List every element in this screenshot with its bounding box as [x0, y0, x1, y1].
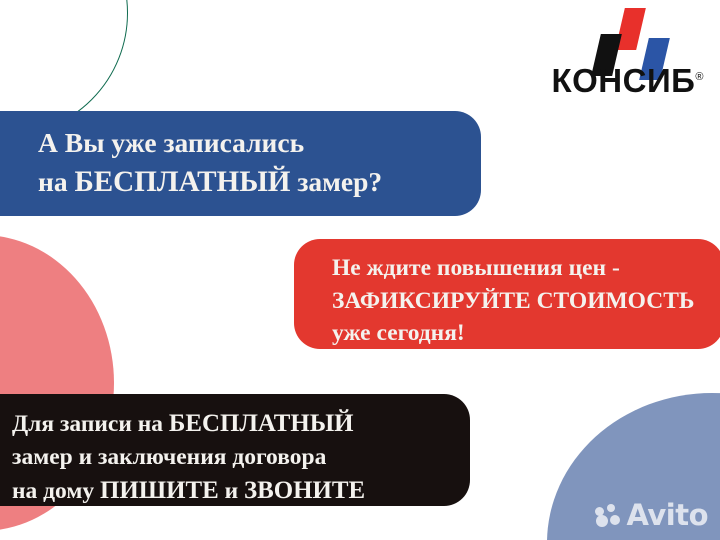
red-banner-line-3: уже сегодня!: [332, 318, 720, 349]
blue-banner-line-2-emphasis: БЕСПЛАТНЫЙ: [74, 166, 290, 198]
blue-banner-line-2-suffix: замер?: [290, 166, 382, 197]
logo-parallelogram-icon: [534, 8, 704, 66]
company-logo: КОНСИБ®: [534, 8, 704, 106]
avito-watermark: Avito: [595, 501, 708, 530]
black-banner-line-1: Для записи на БЕСПЛАТНЫЙ: [12, 408, 470, 440]
logo-wordmark: КОНСИБ®: [534, 62, 704, 100]
logo-wordmark-text: КОНСИБ: [551, 62, 695, 99]
avito-watermark-label: Avito: [626, 501, 708, 530]
urgency-red-banner: Не ждите повышения цен - ЗАФИКСИРУЙТЕ СТ…: [294, 239, 720, 349]
blue-banner-line-2-prefix: на: [38, 166, 74, 197]
black-banner-line-1-emphasis: БЕСПЛАТНЫЙ: [169, 410, 354, 437]
black-banner-line-2: замер и заключения договора: [12, 442, 470, 473]
cta-black-banner: Для записи на БЕСПЛАТНЫЙ замер и заключе…: [0, 394, 470, 506]
red-banner-line-2: ЗАФИКСИРУЙТЕ СТОИМОСТЬ: [332, 286, 720, 317]
headline-blue-banner: А Вы уже записались на БЕСПЛАТНЫЙ замер?: [0, 111, 481, 216]
black-banner-line-3-conjunction: и: [219, 478, 244, 504]
logo-mark-red-icon: [615, 8, 646, 50]
black-banner-line-1-prefix: Для записи на: [12, 411, 169, 437]
black-banner-line-3-prefix: на дому: [12, 478, 100, 504]
blue-banner-line-1: А Вы уже записались: [38, 125, 481, 161]
red-banner-line-1: Не ждите повышения цен -: [332, 253, 720, 284]
black-banner-line-3-emphasis-write: ПИШИТЕ: [100, 477, 219, 504]
black-banner-line-3: на дому ПИШИТЕ и ЗВОНИТЕ: [12, 475, 470, 507]
black-banner-line-3-emphasis-call: ЗВОНИТЕ: [244, 477, 365, 504]
poster-canvas: КОНСИБ® А Вы уже записались на БЕСПЛАТНЫ…: [0, 0, 720, 540]
blue-banner-line-2: на БЕСПЛАТНЫЙ замер?: [38, 164, 481, 202]
avito-logo-icon: [595, 504, 621, 528]
registered-trademark-icon: ®: [695, 71, 704, 83]
